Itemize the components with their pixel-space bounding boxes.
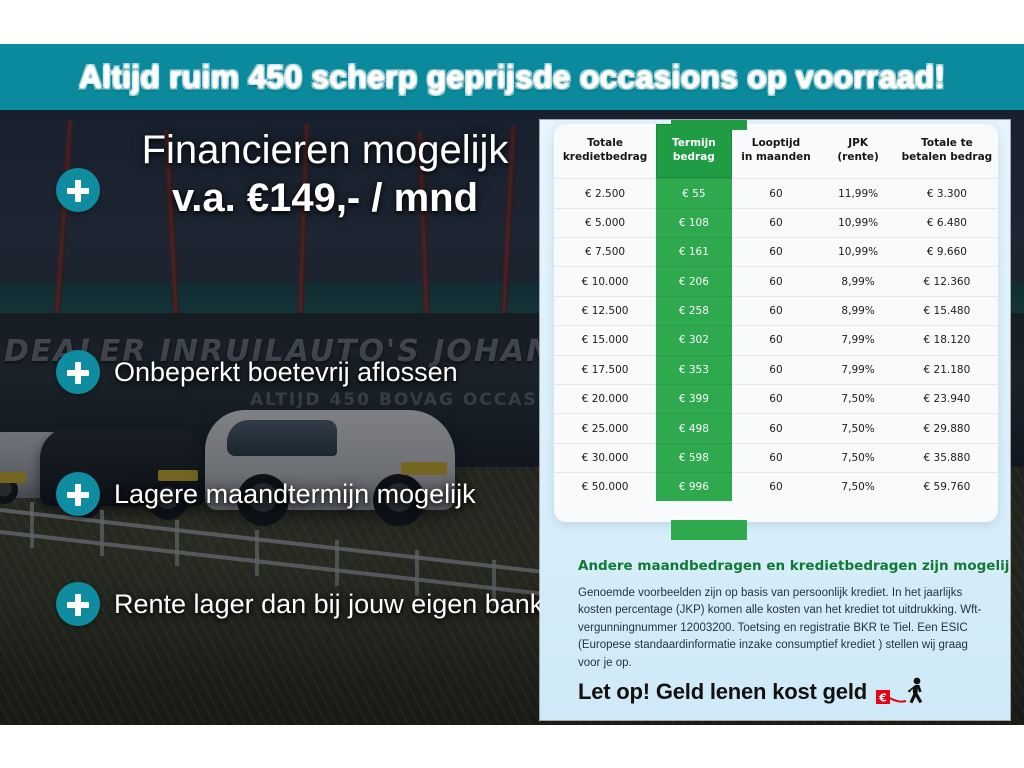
table-cell: € 9.660	[896, 238, 998, 267]
feature-item-1: Lagere maandtermijn mogelijk	[56, 472, 476, 516]
table-cell: € 206	[656, 267, 731, 296]
table-cell: 11,99%	[820, 179, 895, 208]
table-cell: 60	[732, 326, 821, 355]
plus-icon	[56, 350, 100, 394]
table-cell: € 399	[656, 384, 731, 413]
table-cell: € 25.000	[554, 414, 656, 443]
table-row: € 2.500€ 556011,99%€ 3.300	[554, 179, 998, 208]
table-cell: € 21.180	[896, 355, 998, 384]
table-cell: 10,99%	[820, 208, 895, 237]
headline-line-1: Financieren mogelijk	[110, 128, 540, 173]
table-row: € 12.500€ 258608,99%€ 15.480	[554, 296, 998, 325]
table-cell: € 12.360	[896, 267, 998, 296]
feature-item-label: Rente lager dan bij jouw eigen bank	[114, 589, 543, 620]
table-cell: 60	[732, 473, 821, 502]
table-cell: € 10.000	[554, 267, 656, 296]
plus-icon	[56, 472, 100, 516]
table-row: € 7.500€ 1616010,99%€ 9.660	[554, 238, 998, 267]
table-cell: 60	[732, 355, 821, 384]
credit-warning-text: Let op! Geld lenen kost geld	[578, 679, 867, 705]
finance-info-panel: Totale kredietbedrag Termijn bedrag Loop…	[540, 120, 1010, 720]
table-row: € 17.500€ 353607,99%€ 21.180	[554, 355, 998, 384]
table-cell: 60	[732, 208, 821, 237]
table-cell: € 59.760	[896, 473, 998, 502]
table-row: € 5.000€ 1086010,99%€ 6.480	[554, 208, 998, 237]
feature-item-0: Onbeperkt boetevrij aflossen	[56, 350, 458, 394]
table-cell: 10,99%	[820, 238, 895, 267]
table-cell: € 35.880	[896, 443, 998, 472]
table-row: € 25.000€ 498607,50%€ 29.880	[554, 414, 998, 443]
column-header-jkp: JPK (rente)	[820, 124, 895, 179]
table-cell: € 5.000	[554, 208, 656, 237]
table-cell: € 996	[656, 473, 731, 502]
highlight-column-cap-bottom	[671, 520, 747, 540]
table-cell: € 15.480	[896, 296, 998, 325]
table-cell: € 7.500	[554, 238, 656, 267]
table-cell: 60	[732, 443, 821, 472]
table-cell: € 498	[656, 414, 731, 443]
table-cell: 60	[732, 296, 821, 325]
credit-warning: Let op! Geld lenen kost geld €	[578, 676, 928, 708]
rate-table-card: Totale kredietbedrag Termijn bedrag Loop…	[554, 124, 998, 522]
highlight-column-cap-top	[671, 120, 747, 130]
table-cell: € 29.880	[896, 414, 998, 443]
table-cell: € 20.000	[554, 384, 656, 413]
promo-banner: Altijd ruim 450 scherp geprijsde occasio…	[0, 44, 1024, 110]
feature-item-2: Rente lager dan bij jouw eigen bank	[56, 582, 543, 626]
rate-table-body: € 2.500€ 556011,99%€ 3.300€ 5.000€ 10860…	[554, 179, 998, 502]
feature-headline-row	[56, 168, 100, 212]
table-cell: 60	[732, 267, 821, 296]
table-cell: € 55	[656, 179, 731, 208]
column-header-termijn-bedrag: Termijn bedrag	[656, 124, 731, 179]
table-cell: 7,50%	[820, 473, 895, 502]
table-cell: € 258	[656, 296, 731, 325]
table-cell: 60	[732, 179, 821, 208]
rate-table: Totale kredietbedrag Termijn bedrag Loop…	[554, 124, 998, 501]
table-cell: € 23.940	[896, 384, 998, 413]
table-cell: € 6.480	[896, 208, 998, 237]
table-cell: € 353	[656, 355, 731, 384]
table-cell: 60	[732, 414, 821, 443]
table-cell: 7,50%	[820, 443, 895, 472]
table-header-row: Totale kredietbedrag Termijn bedrag Loop…	[554, 124, 998, 179]
table-cell: € 30.000	[554, 443, 656, 472]
table-cell: € 161	[656, 238, 731, 267]
table-row: € 15.000€ 302607,99%€ 18.120	[554, 326, 998, 355]
column-header-totale-te-betalen: Totale te betalen bedrag	[896, 124, 998, 179]
column-header-totale-kredietbedrag: Totale kredietbedrag	[554, 124, 656, 179]
plus-icon	[56, 168, 100, 212]
headline-block: Financieren mogelijk v.a. €149,- / mnd	[110, 128, 540, 223]
advertisement-banner: Altijd ruim 450 scherp geprijsde occasio…	[0, 0, 1024, 768]
table-cell: 7,50%	[820, 384, 895, 413]
table-row: € 20.000€ 399607,50%€ 23.940	[554, 384, 998, 413]
column-header-looptijd: Looptijd in maanden	[732, 124, 821, 179]
table-cell: € 3.300	[896, 179, 998, 208]
headline-line-2: v.a. €149,- / mnd	[110, 173, 540, 223]
table-cell: 7,99%	[820, 355, 895, 384]
table-cell: € 12.500	[554, 296, 656, 325]
table-cell: € 2.500	[554, 179, 656, 208]
table-row: € 30.000€ 598607,50%€ 35.880	[554, 443, 998, 472]
table-row: € 50.000€ 996607,50%€ 59.760	[554, 473, 998, 502]
table-cell: € 17.500	[554, 355, 656, 384]
table-cell: € 302	[656, 326, 731, 355]
disclaimer-title: Andere maandbedragen en kredietbedragen …	[578, 558, 990, 574]
table-row: € 10.000€ 206608,99%€ 12.360	[554, 267, 998, 296]
plus-icon	[56, 582, 100, 626]
afm-ball-and-chain-icon: €	[876, 676, 928, 708]
table-cell: 60	[732, 384, 821, 413]
table-cell: € 18.120	[896, 326, 998, 355]
table-cell: 60	[732, 238, 821, 267]
table-cell: 7,99%	[820, 326, 895, 355]
feature-item-label: Onbeperkt boetevrij aflossen	[114, 357, 458, 388]
table-cell: € 108	[656, 208, 731, 237]
bottom-white-margin	[0, 725, 1024, 768]
feature-item-label: Lagere maandtermijn mogelijk	[114, 479, 476, 510]
svg-text:€: €	[878, 692, 887, 705]
table-cell: 7,50%	[820, 414, 895, 443]
table-cell: 8,99%	[820, 267, 895, 296]
disclaimer-block: Andere maandbedragen en kredietbedragen …	[578, 558, 990, 672]
feature-list: Financieren mogelijk v.a. €149,- / mnd O…	[0, 110, 545, 725]
table-cell: € 598	[656, 443, 731, 472]
promo-banner-text: Altijd ruim 450 scherp geprijsde occasio…	[79, 59, 945, 96]
disclaimer-body: Genoemde voorbeelden zijn op basis van p…	[578, 585, 990, 672]
top-white-margin	[0, 0, 1024, 44]
table-cell: € 50.000	[554, 473, 656, 502]
table-cell: 8,99%	[820, 296, 895, 325]
table-cell: € 15.000	[554, 326, 656, 355]
